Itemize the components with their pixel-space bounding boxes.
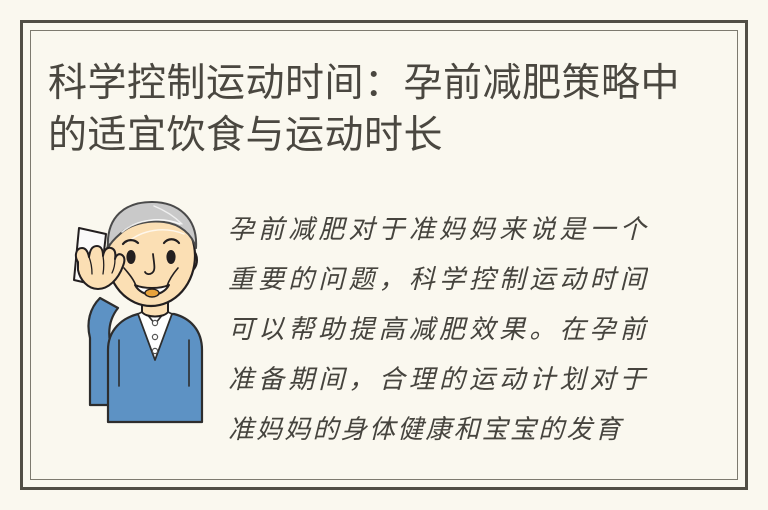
article-card-page: 科学控制运动时间：孕前减肥策略中的适宜饮食与运动时长 — [0, 0, 768, 510]
article-body-text: 孕前减肥对于准妈妈来说是一个重要的问题，科学控制运动时间可以帮助提高减肥效果。在… — [228, 205, 648, 463]
elderly-man-illustration — [56, 190, 206, 435]
page-title: 科学控制运动时间：孕前减肥策略中的适宜饮食与运动时长 — [48, 58, 688, 162]
